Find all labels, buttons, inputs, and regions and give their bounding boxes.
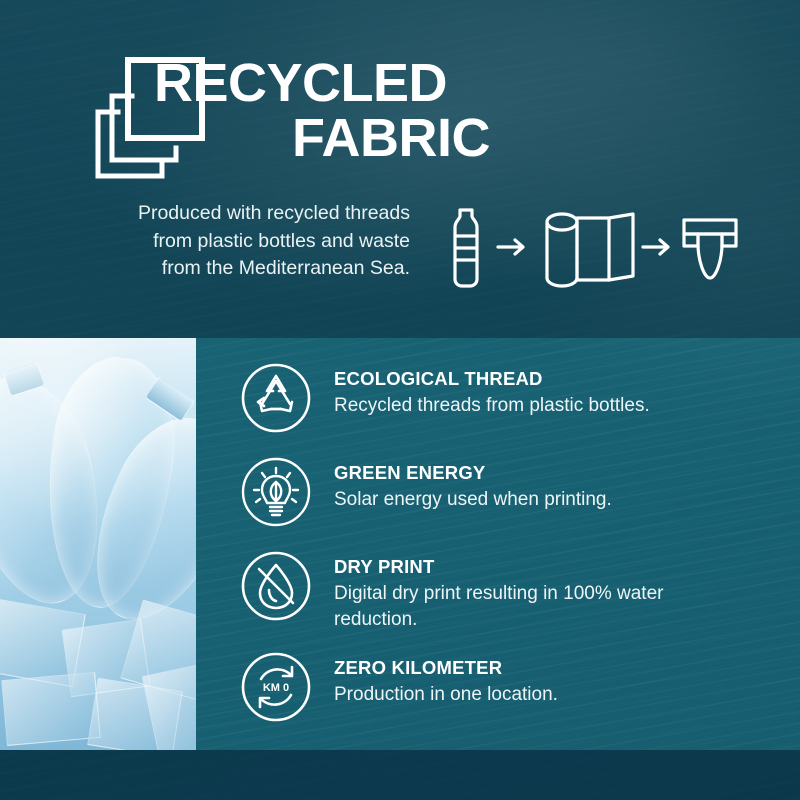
fabric-roll-icon xyxy=(547,214,633,286)
feature-list: ECOLOGICAL THREAD Recycled threads from … xyxy=(240,362,780,745)
arrow-right-icon xyxy=(498,240,523,254)
photo-shard-4 xyxy=(1,672,100,746)
arrow-right-icon xyxy=(643,240,668,254)
feature-description: Solar energy used when printing. xyxy=(334,487,612,513)
lightbulb-leaf-icon-svg xyxy=(240,456,312,528)
plastic-bottle-icon xyxy=(455,210,477,286)
process-diagram xyxy=(438,202,738,300)
recycle-icon xyxy=(240,362,312,434)
list-item: KM 0 ZERO KILOMETER Production in one lo… xyxy=(240,651,780,727)
intro-subtitle-line-1: Produced with recycled threads xyxy=(60,200,410,228)
intro-subtitle: Produced with recycled threads from plas… xyxy=(60,200,410,283)
recycle-icon-svg xyxy=(240,362,312,434)
feature-text-block: DRY PRINT Digital dry print resulting in… xyxy=(334,550,724,633)
km-zero-icon: KM 0 xyxy=(240,651,312,723)
brand-title-group: RECYCLED FABRIC xyxy=(152,58,492,165)
brand-title-line-2: FABRIC xyxy=(152,113,492,164)
brand-title-line-1: RECYCLED xyxy=(152,58,492,109)
feature-text-block: GREEN ENERGY Solar energy used when prin… xyxy=(334,456,612,513)
feature-description: Production in one location. xyxy=(334,682,558,708)
feature-title: ZERO KILOMETER xyxy=(334,657,558,679)
lightbulb-leaf-icon xyxy=(240,456,312,528)
process-diagram-svg xyxy=(438,202,738,300)
list-item: DRY PRINT Digital dry print resulting in… xyxy=(240,550,780,633)
no-water-drop-icon-svg xyxy=(240,550,312,622)
feature-title: GREEN ENERGY xyxy=(334,462,612,484)
list-item: ECOLOGICAL THREAD Recycled threads from … xyxy=(240,362,780,438)
list-item: GREEN ENERGY Solar energy used when prin… xyxy=(240,456,780,532)
intro-subtitle-line-2: from plastic bottles and waste xyxy=(60,228,410,256)
brand-lockup: RECYCLED FABRIC xyxy=(88,52,488,182)
feature-text-block: ECOLOGICAL THREAD Recycled threads from … xyxy=(334,362,650,419)
feature-description: Recycled threads from plastic bottles. xyxy=(334,393,650,419)
feature-title: ECOLOGICAL THREAD xyxy=(334,368,650,390)
footer-band xyxy=(0,750,800,800)
km-zero-icon-svg: KM 0 xyxy=(240,651,312,723)
recycled-fabric-infographic: RECYCLED FABRIC Produced with recycled t… xyxy=(0,0,800,800)
feature-title: DRY PRINT xyxy=(334,556,724,578)
no-water-drop-icon xyxy=(240,550,312,622)
feature-text-block: ZERO KILOMETER Production in one locatio… xyxy=(334,651,558,708)
intro-subtitle-line-3: from the Mediterranean Sea. xyxy=(60,255,410,283)
garment-icon xyxy=(684,220,736,278)
km-zero-label: KM 0 xyxy=(263,682,289,694)
feature-description: Digital dry print resulting in 100% wate… xyxy=(334,581,724,633)
plastic-bottles-photo xyxy=(0,338,196,750)
header-section: RECYCLED FABRIC Produced with recycled t… xyxy=(0,0,800,338)
intro-row: Produced with recycled threads from plas… xyxy=(0,196,800,306)
